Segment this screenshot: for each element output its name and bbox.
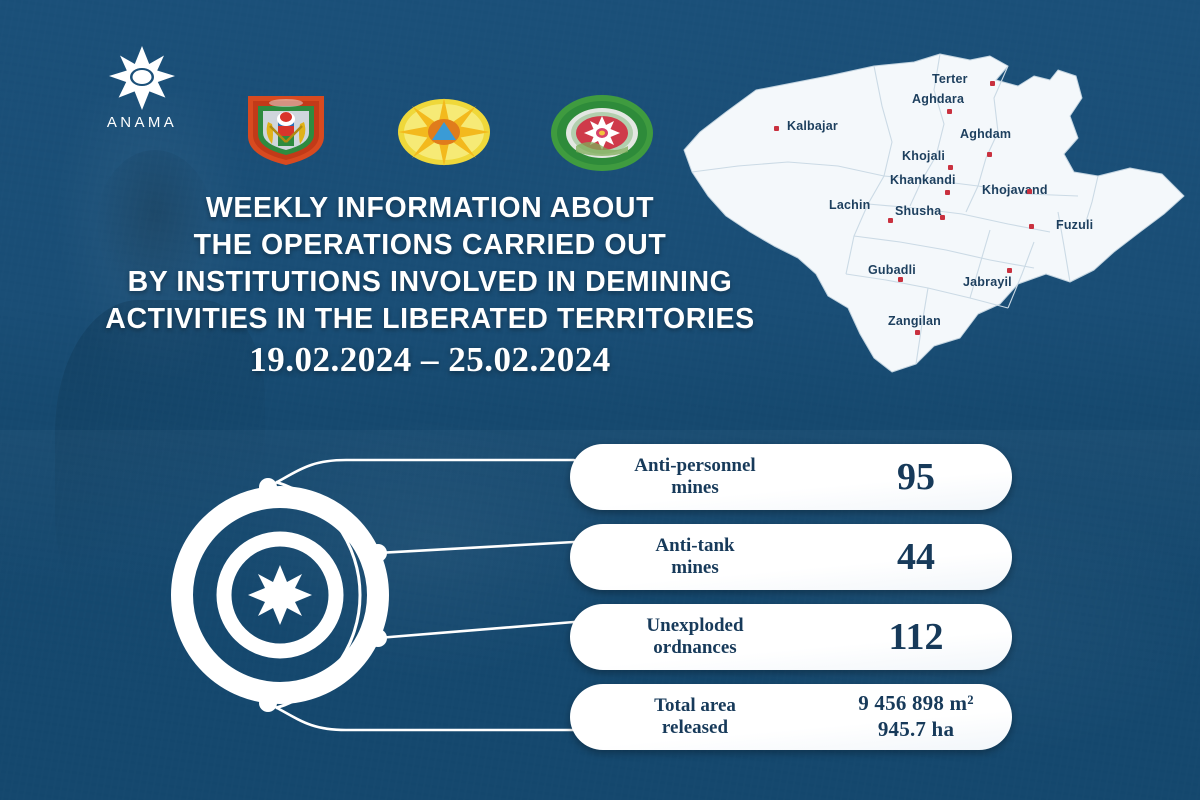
map-label-jabrayil: Jabrayil [963, 275, 1012, 289]
stat-label: Unexploded ordnances [570, 615, 820, 659]
map-marker-gubadli [898, 277, 903, 282]
map-label-aghdam: Aghdam [960, 127, 1011, 141]
map-marker-khankandi [945, 190, 950, 195]
map-label-fuzuli: Fuzuli [1056, 218, 1093, 232]
state-border-service-emblem [550, 94, 654, 172]
connector-node-1 [259, 478, 277, 496]
ministry-of-defence-emblem [244, 92, 328, 168]
map-label-lachin: Lachin [829, 198, 870, 212]
liberated-territories-map: TerterAghdaraKalbajarAghdamKhojaliKhanka… [678, 46, 1200, 396]
map-label-khojali: Khojali [902, 149, 945, 163]
map-marker-khojavand [1027, 189, 1032, 194]
stat-label-line-1: Anti-personnel [570, 455, 820, 477]
map-marker-khojali [948, 165, 953, 170]
map-marker-kalbajar [774, 126, 779, 131]
stat-label-line-2: ordnances [570, 637, 820, 659]
starburst-emblem-icon [396, 96, 492, 168]
stat-label: Anti-tank mines [570, 535, 820, 579]
connector-line-3 [378, 622, 574, 638]
stat-value: 9 456 898 m² 945.7 ha [820, 691, 1012, 742]
map-label-zangilan: Zangilan [888, 314, 941, 328]
stat-label-line-2: released [570, 717, 820, 739]
statistics-list: Anti-personnel mines 95 Anti-tank mines … [570, 444, 1012, 774]
anama-logo: ANAMA [88, 46, 196, 138]
stat-label-line-2: mines [570, 557, 820, 579]
stat-label-line-1: Unexploded [570, 615, 820, 637]
stat-pill-unexploded-ordnances[interactable]: Unexploded ordnances 112 [570, 604, 1012, 670]
map-marker-terter [990, 81, 995, 86]
stat-pill-anti-personnel-mines[interactable]: Anti-personnel mines 95 [570, 444, 1012, 510]
connector-line-2 [378, 542, 574, 553]
map-marker-zangilan [915, 330, 920, 335]
map-marker-fuzuli [1029, 224, 1034, 229]
connector-line-4 [268, 703, 574, 730]
stat-label-line-2: mines [570, 477, 820, 499]
map-label-kalbajar: Kalbajar [787, 119, 838, 133]
map-label-shusha: Shusha [895, 204, 941, 218]
stat-pill-total-area-released[interactable]: Total area released 9 456 898 m² 945.7 h… [570, 684, 1012, 750]
map-marker-aghdara [947, 109, 952, 114]
stat-value-line-2: 945.7 ha [820, 717, 1012, 743]
shield-emblem-icon [244, 92, 328, 168]
stat-value: 112 [820, 618, 1012, 656]
connector-node-4 [259, 694, 277, 712]
eight-pointed-star-icon [88, 46, 196, 116]
connector-line-1 [268, 460, 574, 487]
anama-wordmark: ANAMA [88, 114, 196, 131]
map-marker-jabrayil [1007, 268, 1012, 273]
map-label-terter: Terter [932, 72, 968, 86]
ministry-of-emergency-situations-emblem [396, 96, 492, 168]
infographic-poster: ANAMA [0, 0, 1200, 800]
stat-value-line-1: 9 456 898 m² [820, 691, 1012, 717]
map-label-gubadli: Gubadli [868, 263, 916, 277]
concentric-target-with-star-icon [182, 497, 378, 693]
stat-label: Total area released [570, 695, 820, 739]
logo-row: ANAMA [0, 44, 700, 140]
map-marker-shusha [940, 215, 945, 220]
map-label-khojavand: Khojavand [982, 183, 1048, 197]
stat-value: 44 [820, 538, 1012, 576]
stat-label-line-1: Anti-tank [570, 535, 820, 557]
stat-label: Anti-personnel mines [570, 455, 820, 499]
stat-label-line-1: Total area [570, 695, 820, 717]
map-marker-aghdam [987, 152, 992, 157]
connector-node-3 [369, 629, 387, 647]
map-marker-lachin [888, 218, 893, 223]
connector-node-2 [369, 544, 387, 562]
map-label-khankandi: Khankandi [890, 173, 956, 187]
stat-pill-anti-tank-mines[interactable]: Anti-tank mines 44 [570, 524, 1012, 590]
circular-seal-icon [550, 94, 654, 172]
stat-value: 95 [820, 458, 1012, 496]
map-label-aghdara: Aghdara [912, 92, 964, 106]
